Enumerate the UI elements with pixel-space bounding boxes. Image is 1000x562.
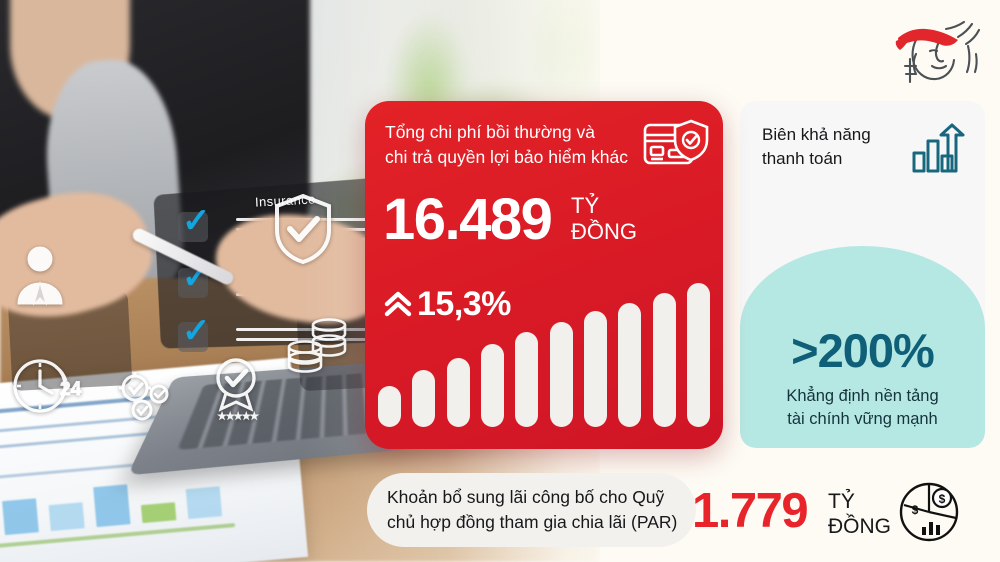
bar-chart-arrow-up-icon bbox=[912, 123, 966, 175]
par-bonus-bar: Khoản bổ sung lãi công bố cho Quỹ chủ hợ… bbox=[367, 473, 696, 547]
chart-bar bbox=[687, 283, 710, 427]
solvency-title-line2: thanh toán bbox=[762, 149, 842, 168]
infographic-canvas: Insurance ✓ ✓ ✓ bbox=[0, 0, 1000, 562]
par-bonus-unit: TỶ ĐỒNG bbox=[828, 489, 891, 539]
solvency-caption-line1: Khẳng định nền tảng bbox=[786, 387, 938, 405]
clock-24h-icon: 24 bbox=[12, 355, 82, 417]
pie-chart-dollar-icon: $ $ bbox=[898, 481, 960, 543]
claims-unit-line2: ĐỒNG bbox=[571, 219, 637, 244]
claims-card-title: Tổng chi phí bồi thường và chi trả quyền… bbox=[385, 120, 635, 171]
solvency-panel: Biên khả năng thanh toán >200% Khẳng địn… bbox=[740, 101, 985, 448]
svg-text:$: $ bbox=[939, 492, 946, 506]
claims-card-title-line1: Tổng chi phí bồi thường và bbox=[385, 122, 595, 142]
chart-bar bbox=[618, 303, 641, 427]
chart-bar bbox=[584, 311, 607, 427]
award-ribbon-icon: ★★★★★ bbox=[208, 355, 264, 421]
svg-text:$: $ bbox=[912, 503, 919, 517]
credit-card-shield-icon bbox=[643, 119, 709, 173]
photo-check-icon-3: ✓ bbox=[182, 314, 211, 348]
chart-bar bbox=[412, 370, 435, 427]
solvency-caption: Khẳng định nền tảng tài chính vững mạnh bbox=[740, 385, 985, 430]
par-bonus-value: 1.779 bbox=[692, 487, 807, 536]
chart-bar bbox=[550, 322, 573, 427]
claims-bar-chart bbox=[378, 279, 710, 427]
photo-check-icon-1: ✓ bbox=[182, 204, 211, 238]
claims-card-title-line2: chi trả quyền lợi bảo hiểm khác bbox=[385, 147, 628, 167]
par-bonus-unit-line1: TỶ bbox=[828, 490, 855, 513]
chart-bar bbox=[378, 386, 401, 427]
svg-text:24: 24 bbox=[60, 379, 82, 400]
agent-person-icon bbox=[10, 242, 70, 306]
chart-bar bbox=[447, 358, 470, 427]
dai-ichi-life-logo bbox=[880, 10, 988, 86]
solvency-title-line1: Biên khả năng bbox=[762, 125, 871, 144]
par-bonus-unit-line2: ĐỒNG bbox=[828, 515, 891, 538]
chart-bar bbox=[481, 344, 504, 427]
chart-bar bbox=[515, 332, 538, 427]
par-bonus-text-line1: Khoản bổ sung lãi công bố cho Quỹ bbox=[387, 487, 664, 507]
solvency-title: Biên khả năng thanh toán bbox=[762, 123, 897, 171]
claims-expense-card: Tổng chi phí bồi thường và chi trả quyền… bbox=[365, 101, 723, 449]
solvency-caption-line2: tài chính vững mạnh bbox=[787, 410, 937, 428]
chart-bar bbox=[653, 293, 676, 427]
claims-unit-line1: TỶ bbox=[571, 193, 599, 218]
claims-unit: TỶ ĐỒNG bbox=[571, 193, 637, 245]
solvency-value: >200% bbox=[740, 327, 985, 374]
par-bonus-text: Khoản bổ sung lãi công bố cho Quỹ chủ hợ… bbox=[367, 485, 677, 535]
claims-value: 16.489 bbox=[383, 191, 551, 249]
gears-check-icon bbox=[115, 368, 177, 426]
svg-text:★★★★★: ★★★★★ bbox=[218, 411, 258, 421]
par-bonus-text-line2: chủ hợp đồng tham gia chia lãi (PAR) bbox=[387, 512, 677, 532]
